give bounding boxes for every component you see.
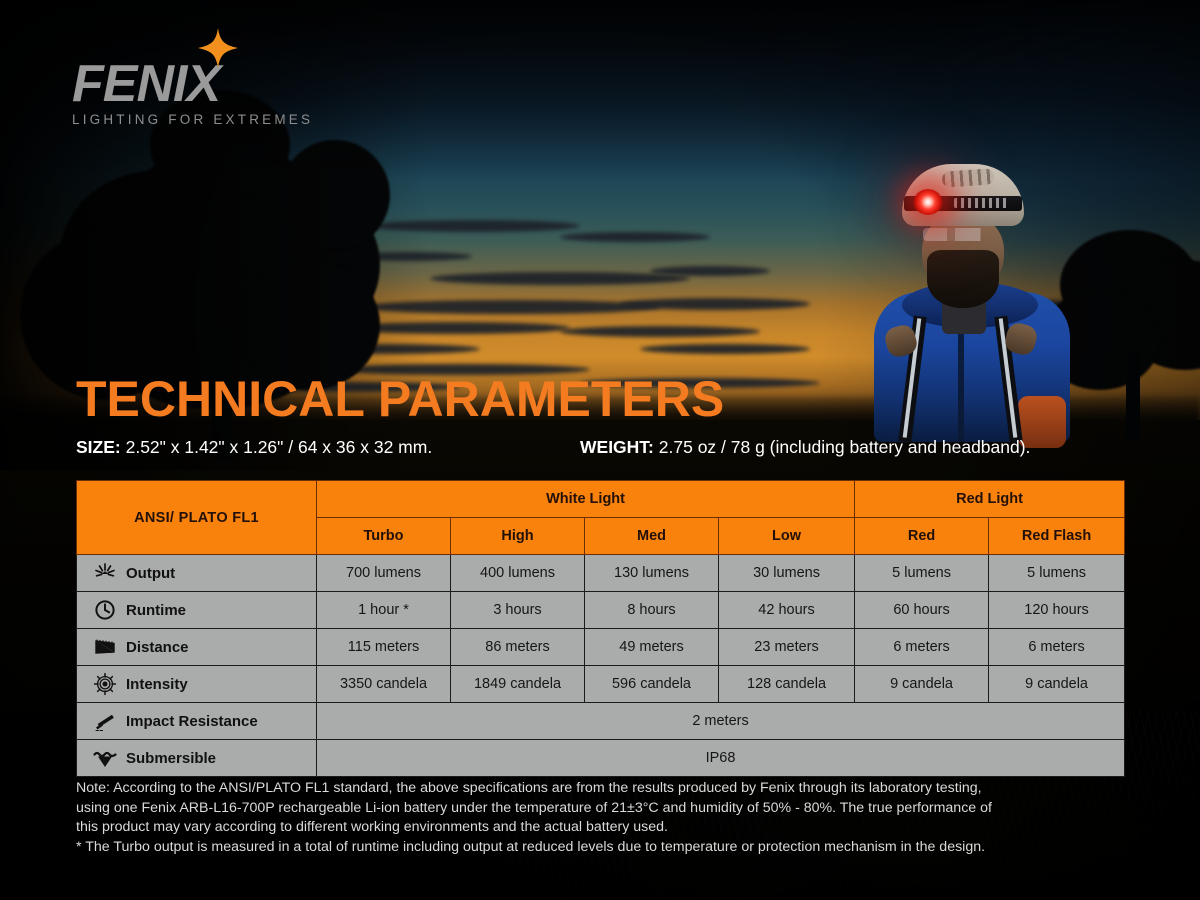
mode-header-low: Low [719,518,855,555]
product-spec-sheet: FENIX LIGHTING FOR EXTREMES TECHNICAL PA… [0,0,1200,900]
fenix-logo: FENIX LIGHTING FOR EXTREMES [72,58,313,127]
cell-output-red-flash: 5 lumens [989,555,1125,592]
cell-impact-resistance-value: 2 meters [317,703,1125,740]
row-label-runtime: Runtime [77,592,317,629]
cell-runtime-red-flash: 120 hours [989,592,1125,629]
target-intensity-icon [93,672,117,696]
red-headlamp-light [913,189,943,215]
table-row: Distance 115 meters 86 meters 49 meters … [77,629,1125,666]
cell-distance-turbo: 115 meters [317,629,451,666]
row-label-text: Runtime [126,602,186,619]
cell-output-med: 130 lumens [585,555,719,592]
cell-intensity-red-flash: 9 candela [989,666,1125,703]
row-label-intensity: Intensity [77,666,317,703]
mode-header-med: Med [585,518,719,555]
cell-distance-high: 86 meters [451,629,585,666]
cell-intensity-high: 1849 candela [451,666,585,703]
row-label-output: Output [77,555,317,592]
technical-parameters-table: ANSI/ PLATO FL1 White Light Red Light Tu… [76,480,1125,777]
cell-runtime-med: 8 hours [585,592,719,629]
clock-icon [93,598,117,622]
beam-distance-icon [93,635,117,659]
cell-intensity-turbo: 3350 candela [317,666,451,703]
cell-intensity-med: 596 candela [585,666,719,703]
row-label-distance: Distance [77,629,317,666]
group-header-white-light: White Light [317,481,855,518]
row-label-impact-resistance: Impact Resistance [77,703,317,740]
row-label-text: Impact Resistance [126,713,258,730]
cell-runtime-high: 3 hours [451,592,585,629]
cell-distance-red-flash: 6 meters [989,629,1125,666]
cell-output-red: 5 lumens [855,555,989,592]
starburst-icon [93,561,117,585]
table-row: Output 700 lumens 400 lumens 130 lumens … [77,555,1125,592]
footnote-line-2: using one Fenix ARB-L16-700P rechargeabl… [76,799,1128,819]
water-waves-icon [93,746,117,770]
size-spec-line: SIZE: 2.52" x 1.42" x 1.26" / 64 x 36 x … [76,437,432,458]
footnote-block: Note: According to the ANSI/PLATO FL1 st… [76,779,1128,857]
cell-runtime-low: 42 hours [719,592,855,629]
row-label-submersible: Submersible [77,740,317,777]
logo-wordmark: FENIX [72,58,313,110]
table-row: Runtime 1 hour * 3 hours 8 hours 42 hour… [77,592,1125,629]
page-title: TECHNICAL PARAMETERS [76,374,724,424]
cell-intensity-low: 128 candela [719,666,855,703]
four-point-star-icon [198,28,238,68]
mode-header-red-flash: Red Flash [989,518,1125,555]
cell-output-high: 400 lumens [451,555,585,592]
cell-output-low: 30 lumens [719,555,855,592]
impact-hammer-icon [93,709,117,733]
mode-header-turbo: Turbo [317,518,451,555]
footnote-line-1: Note: According to the ANSI/PLATO FL1 st… [76,779,1128,799]
cell-submersible-value: IP68 [317,740,1125,777]
row-label-text: Intensity [126,676,188,693]
table-row: Intensity 3350 candela 1849 candela 596 … [77,666,1125,703]
cell-distance-red: 6 meters [855,629,989,666]
footnote-line-4: * The Turbo output is measured in a tota… [76,838,1128,858]
footnote-line-3: this product may vary according to diffe… [76,818,1128,838]
table-group-header-row: ANSI/ PLATO FL1 White Light Red Light [77,481,1125,518]
cell-distance-low: 23 meters [719,629,855,666]
group-header-red-light: Red Light [855,481,1125,518]
size-value: 2.52" x 1.42" x 1.26" / 64 x 36 x 32 mm. [126,437,433,457]
table-row: Impact Resistance 2 meters [77,703,1125,740]
size-label: SIZE: [76,437,121,457]
table-row: Submersible IP68 [77,740,1125,777]
hiker-photo-subject [830,140,1130,440]
mode-header-red: Red [855,518,989,555]
cell-distance-med: 49 meters [585,629,719,666]
weight-spec-line: WEIGHT: 2.75 oz / 78 g (including batter… [580,437,1030,458]
mode-header-high: High [451,518,585,555]
row-label-text: Output [126,565,175,582]
weight-value: 2.75 oz / 78 g (including battery and he… [659,437,1031,457]
eyeglasses [923,228,1003,241]
cell-runtime-turbo: 1 hour * [317,592,451,629]
cell-intensity-red: 9 candela [855,666,989,703]
row-label-text: Submersible [126,750,216,767]
weight-label: WEIGHT: [580,437,654,457]
logo-tagline: LIGHTING FOR EXTREMES [72,112,313,127]
row-label-text: Distance [126,639,189,656]
cell-runtime-red: 60 hours [855,592,989,629]
cell-output-turbo: 700 lumens [317,555,451,592]
ansi-plato-corner-label: ANSI/ PLATO FL1 [77,481,317,555]
